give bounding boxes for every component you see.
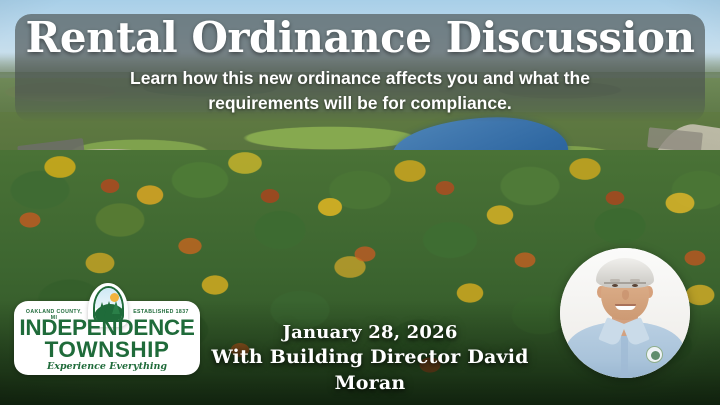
independence-township-logo: OAKLAND COUNTY, MI ESTABLISHED 1837 INDE…: [14, 283, 200, 383]
subheadline-line-2: requirements will be for compliance.: [90, 91, 630, 116]
subheadline-line-1: Learn how this new ordinance affects you…: [90, 66, 630, 91]
tree-icon: [112, 301, 120, 314]
poster-headline: Rental Ordinance Discussion: [0, 16, 720, 60]
portrait-eye-left: [612, 284, 618, 287]
portrait-shirt-logo-patch: [646, 346, 663, 363]
portrait-eye-right: [632, 284, 638, 287]
portrait-nose: [622, 290, 629, 300]
portrait-shirt-placket: [621, 336, 628, 378]
logo-wordmark-line-2: TOWNSHIP: [14, 337, 200, 363]
logo-tagline: Experience Everything: [14, 361, 200, 372]
event-speaker: With Building Director David Moran: [180, 344, 560, 396]
poster-subheadline: Learn how this new ordinance affects you…: [90, 66, 630, 116]
event-date: January 28, 2026: [180, 322, 560, 344]
portrait-glasses: [604, 282, 646, 284]
portrait-smile: [615, 304, 636, 310]
event-details: January 28, 2026 With Building Director …: [180, 322, 560, 396]
speaker-portrait: [560, 248, 690, 378]
event-poster: Rental Ordinance Discussion Learn how th…: [0, 0, 720, 405]
